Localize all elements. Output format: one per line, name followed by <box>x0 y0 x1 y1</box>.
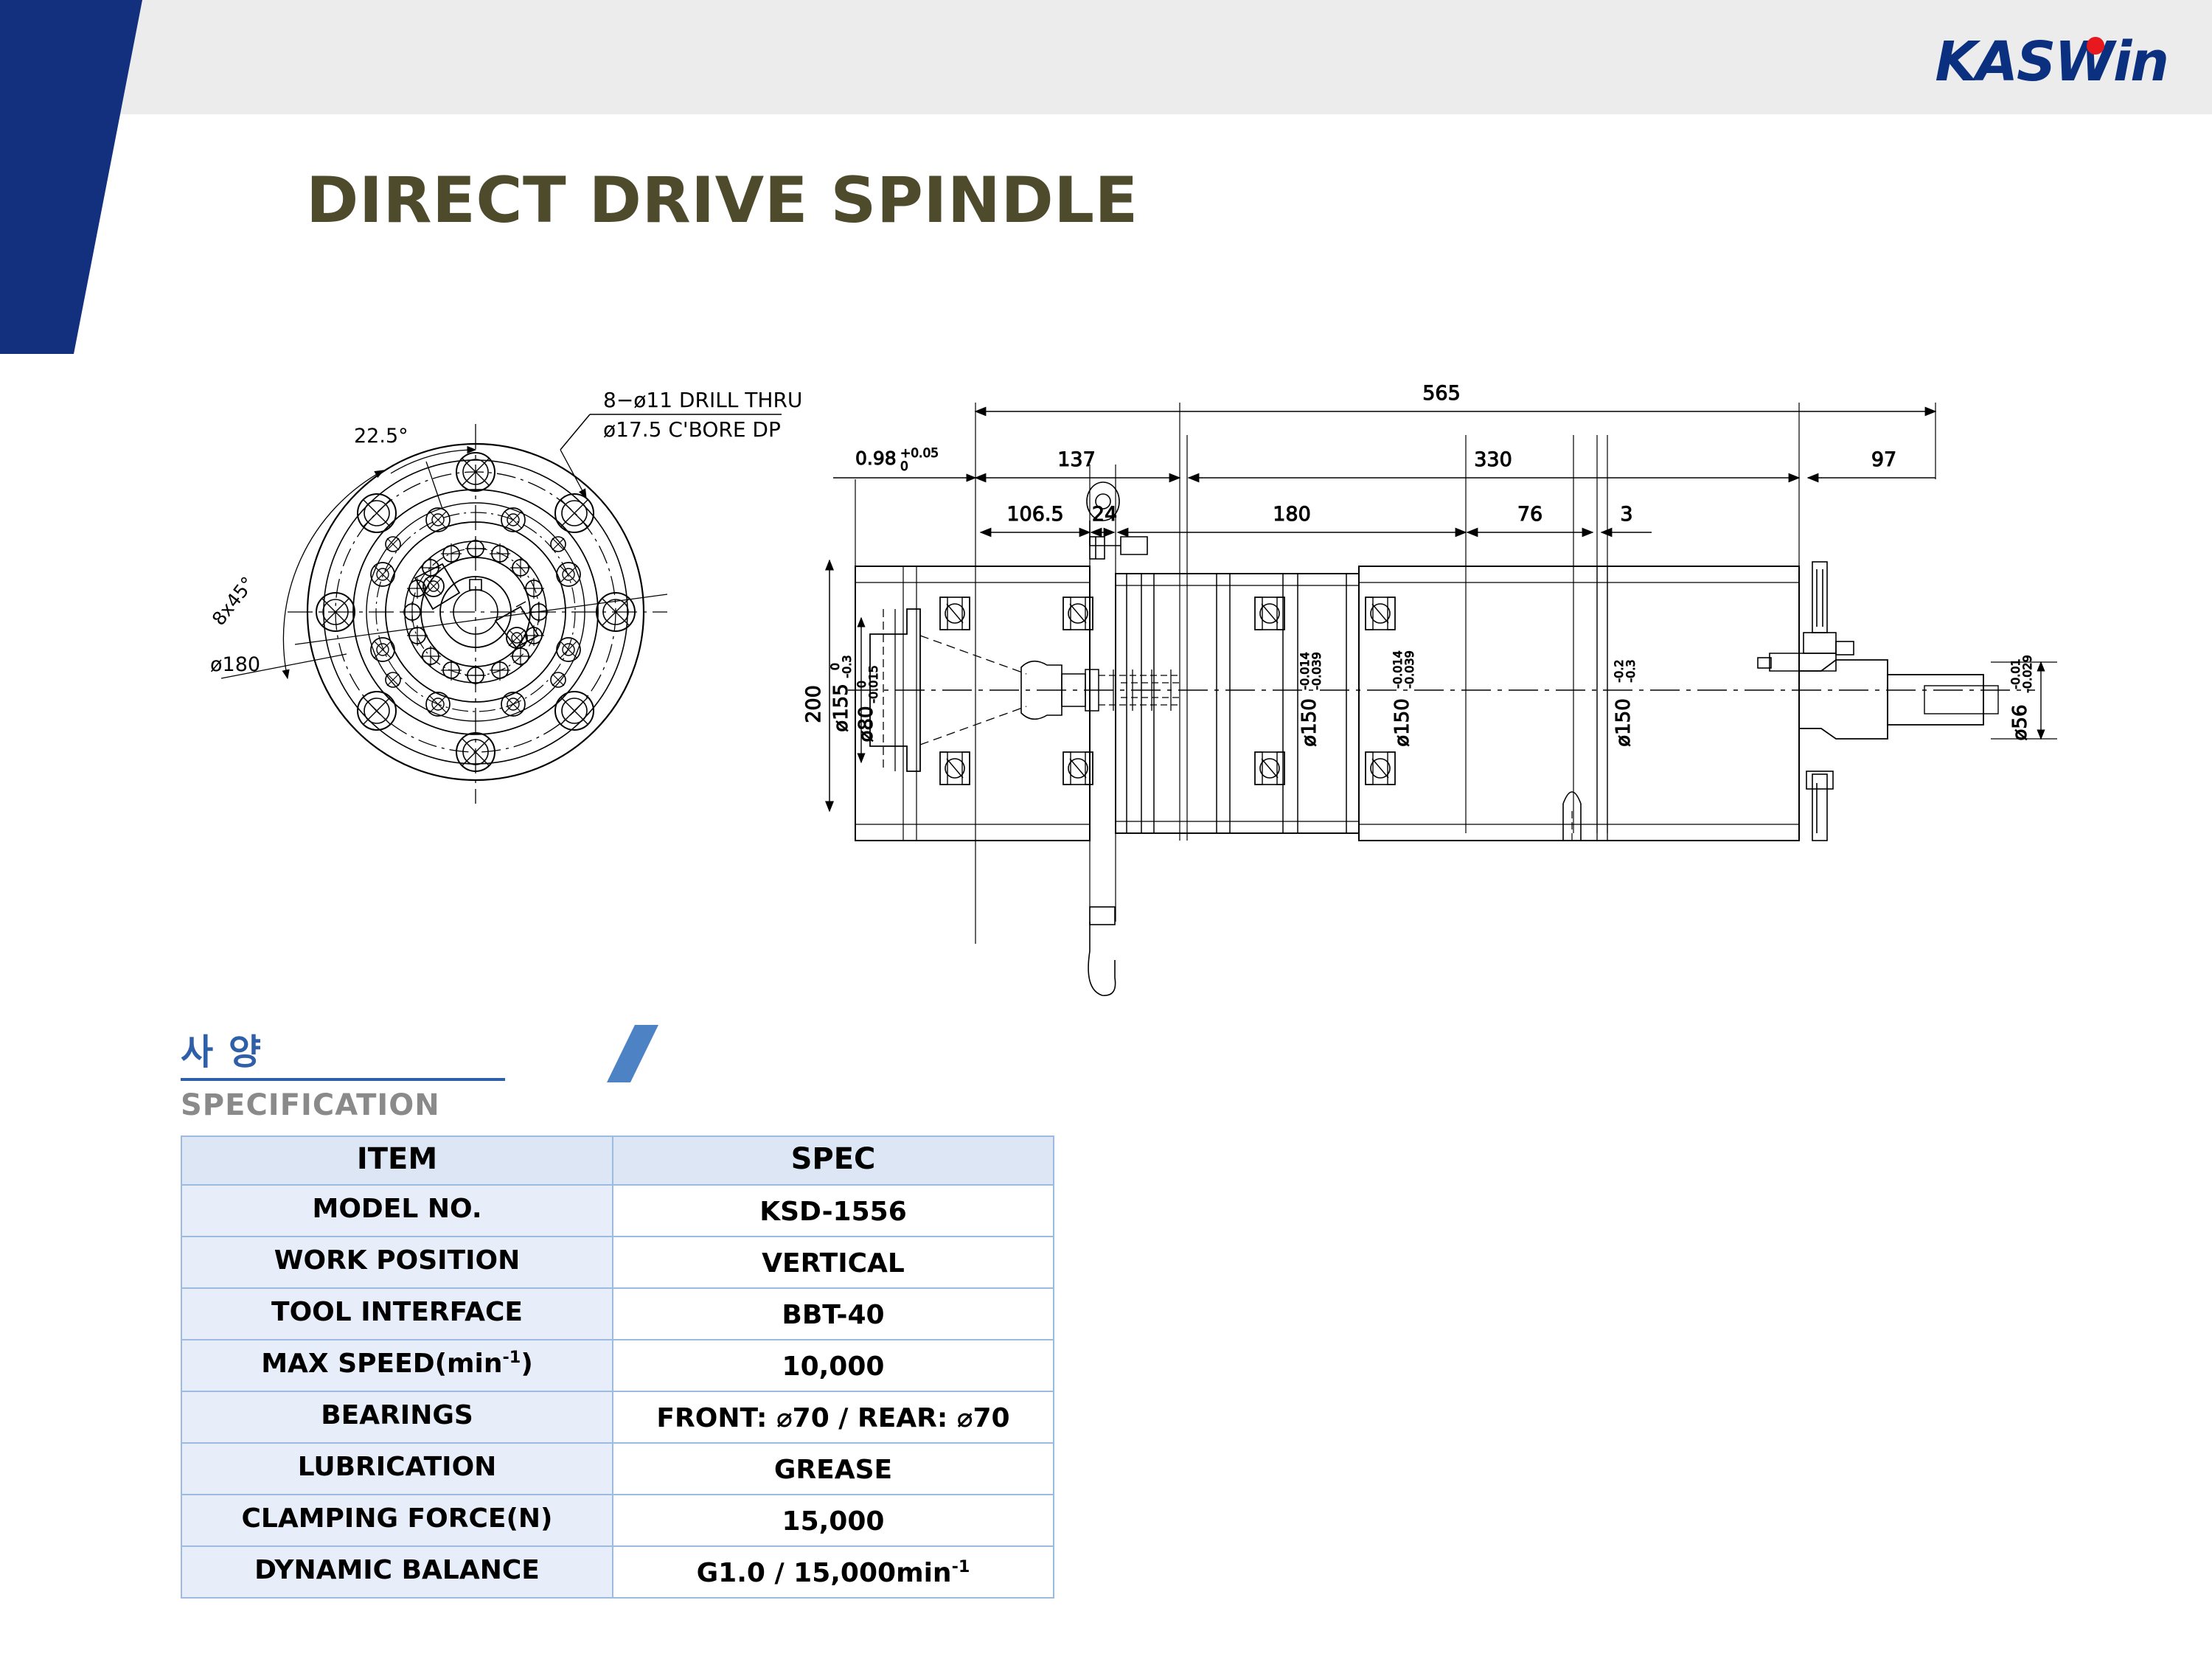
drill-callout-line1: 8−ø11 DRILL THRU <box>603 388 802 412</box>
dim-3: 3 <box>1620 503 1632 526</box>
dia-80-lower: -0.015 <box>866 665 880 703</box>
row-label-model-no: MODEL NO. <box>181 1185 613 1237</box>
pattern-label-8x45: 8x45° <box>208 573 259 630</box>
dim-137: 137 <box>1057 448 1096 471</box>
specification-table: ITEM SPEC MODEL NO. KSD-1556 WORK POSITI… <box>181 1135 1054 1599</box>
dim-200: 200 <box>802 685 825 723</box>
dia-56-lower: -0.029 <box>2020 655 2034 693</box>
tolerance-0-98-lower: 0 <box>900 459 908 474</box>
spec-heading-korean: 사 양 <box>181 1032 564 1072</box>
dia-150-a-lower: -0.039 <box>1310 652 1324 690</box>
dim-97: 97 <box>1871 448 1896 471</box>
dia-150-b-lower: -0.039 <box>1402 650 1416 689</box>
row-value-lubrication: GREASE <box>613 1443 1054 1495</box>
dia-56-label: ø56 <box>2009 705 2031 741</box>
spec-heading-english: SPECIFICATION <box>181 1088 440 1122</box>
drill-callout-line2: ø17.5 C'BORE DP <box>603 417 781 442</box>
front-view-flange <box>288 424 667 804</box>
row-value-tool-interface: BBT-40 <box>613 1288 1054 1340</box>
specification-heading: 사 양 SPECIFICATION <box>181 1032 564 1072</box>
logo-wordmark: KASWin <box>1935 35 2168 88</box>
dim-24: 24 <box>1092 503 1117 526</box>
row-value-model-no: KSD-1556 <box>613 1185 1054 1237</box>
tolerance-0-98: 0.98 <box>855 448 897 469</box>
dim-106-5: 106.5 <box>1006 503 1063 526</box>
column-header-item: ITEM <box>181 1136 613 1185</box>
row-value-dynamic-balance: G1.0 / 15,000min-1 <box>613 1546 1054 1598</box>
technical-drawing: 22.5° 8x45° ø180 8−ø11 DRILL THRU ø17.5 … <box>0 361 2212 1047</box>
table-row: CLAMPING FORCE(N) 15,000 <box>181 1495 1054 1546</box>
dia-150-b-label: ø150 <box>1391 698 1413 747</box>
row-label-dynamic-balance: DYNAMIC BALANCE <box>181 1546 613 1598</box>
table-row: WORK POSITION VERTICAL <box>181 1237 1054 1288</box>
row-label-lubrication: LUBRICATION <box>181 1443 613 1495</box>
table-row: DYNAMIC BALANCE G1.0 / 15,000min-1 <box>181 1546 1054 1598</box>
table-row: LUBRICATION GREASE <box>181 1443 1054 1495</box>
dia-80-label: ø80 <box>855 706 877 742</box>
spec-heading-underline <box>181 1078 505 1081</box>
angle-label-22-5: 22.5° <box>354 425 408 448</box>
row-label-tool-interface: TOOL INTERFACE <box>181 1288 613 1340</box>
table-row: MODEL NO. KSD-1556 <box>181 1185 1054 1237</box>
column-header-spec: SPEC <box>613 1136 1054 1185</box>
dim-180: 180 <box>1273 503 1311 526</box>
bolt-circle-label: ø180 <box>210 653 260 676</box>
section-view: 565 137 330 97 0.98 +0.05 0 106.5 24 180… <box>802 382 2057 995</box>
dim-76: 76 <box>1517 503 1543 526</box>
row-label-clamping-force: CLAMPING FORCE(N) <box>181 1495 613 1546</box>
row-value-clamping-force: 15,000 <box>613 1495 1054 1546</box>
kaswin-logo: KASWin <box>1858 35 2168 88</box>
dia-150-a-label: ø150 <box>1298 698 1321 747</box>
row-label-work-position: WORK POSITION <box>181 1237 613 1288</box>
dia-155-lower: -0.3 <box>840 655 854 678</box>
table-row: MAX SPEED(min-1) 10,000 <box>181 1340 1054 1391</box>
dia-155-label: ø155 <box>830 684 852 732</box>
dia-150-c-label: ø150 <box>1613 698 1635 747</box>
table-row: TOOL INTERFACE BBT-40 <box>181 1288 1054 1340</box>
dim-330: 330 <box>1474 448 1512 471</box>
dim-overall-565: 565 <box>1422 382 1461 405</box>
table-body: MODEL NO. KSD-1556 WORK POSITION VERTICA… <box>181 1185 1054 1598</box>
row-label-bearings: BEARINGS <box>181 1391 613 1443</box>
tolerance-0-98-upper: +0.05 <box>900 446 939 461</box>
row-label-max-speed: MAX SPEED(min-1) <box>181 1340 613 1391</box>
row-value-bearings: FRONT: ⌀70 / REAR: ⌀70 <box>613 1391 1054 1443</box>
row-value-work-position: VERTICAL <box>613 1237 1054 1288</box>
drawing-canvas: 22.5° 8x45° ø180 8−ø11 DRILL THRU ø17.5 … <box>0 361 2212 1047</box>
table-header-row: ITEM SPEC <box>181 1136 1054 1185</box>
page-title: DIRECT DRIVE SPINDLE <box>306 164 1138 237</box>
spec-heading-slash-icon <box>601 1025 660 1082</box>
row-value-max-speed: 10,000 <box>613 1340 1054 1391</box>
dia-150-c-lower: -0.3 <box>1624 659 1638 682</box>
logo-dot-icon <box>2087 37 2104 55</box>
front-view-annotations: 22.5° 8x45° ø180 8−ø11 DRILL THRU ø17.5 … <box>208 388 803 678</box>
table-row: BEARINGS FRONT: ⌀70 / REAR: ⌀70 <box>181 1391 1054 1443</box>
